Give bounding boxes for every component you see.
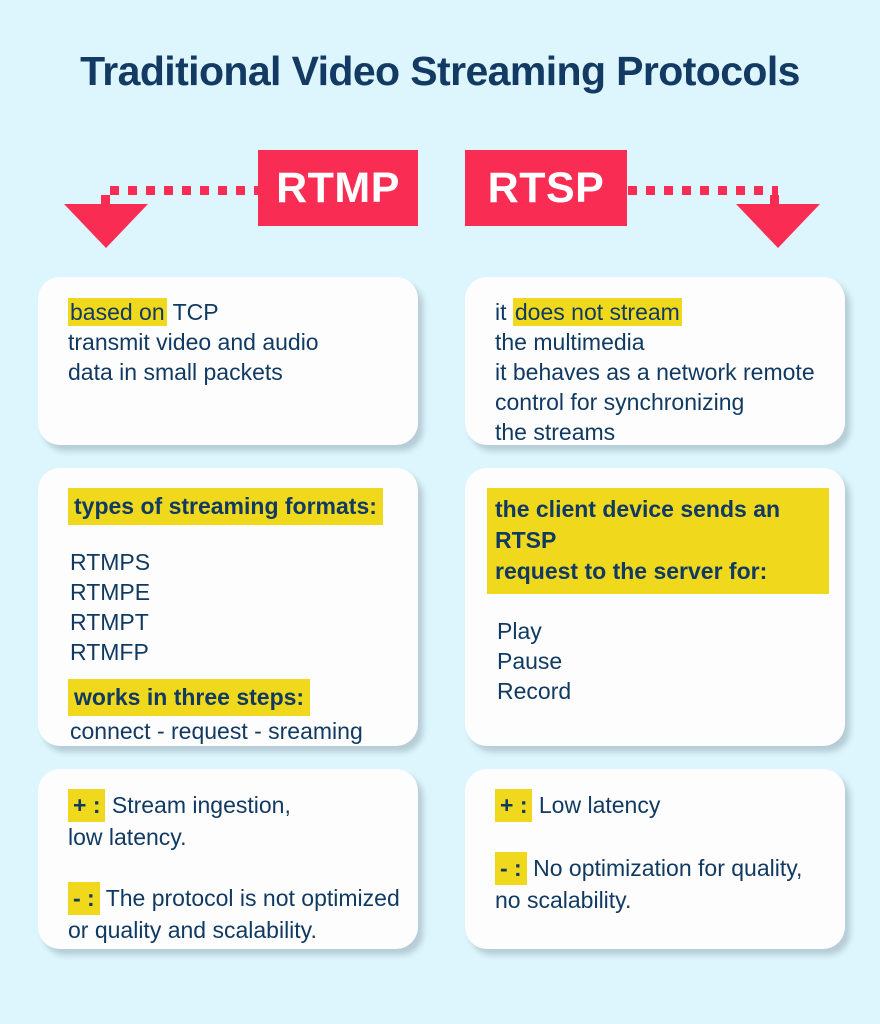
page-title: Traditional Video Streaming Protocols [0,48,880,95]
con-line-2: no scalability. [495,885,823,915]
card-line: it does not stream [495,297,823,327]
badge-rtmp[interactable]: RTMP [258,150,418,226]
highlight-heading: types of streaming formats: [68,488,383,525]
list-item: Record [495,676,823,706]
card-line: transmit video and audio [68,327,396,357]
banner-line-1: the client device sends an RTSP [495,496,780,553]
card-rtsp-requests: the client device sends an RTSP request … [465,468,845,746]
card-line: it behaves as a network remote [495,357,823,387]
dotted-connector-left [110,186,260,195]
card-rtmp-overview: based on TCP transmit video and audio da… [38,277,418,445]
arrow-down-right-icon [736,204,820,248]
protocol-header-band: RTMP RTSP [0,150,880,250]
con-text: The protocol is not optimized [100,885,400,911]
arrow-down-left-icon [64,204,148,248]
card-rtsp-overview: it does not stream the multimedia it beh… [465,277,845,445]
con-marker: - : [68,882,100,915]
pro-text: Stream ingestion, [105,792,290,818]
card-heading: types of streaming formats: [68,488,396,525]
list-item: RTMFP [68,637,396,667]
pro-line: + : Stream ingestion, [68,789,396,822]
card-rtsp-pros-cons: + : Low latency - : No optimization for … [465,769,845,949]
dotted-connector-right [628,186,778,195]
connector-dot-left [101,195,110,204]
spacer [495,594,823,616]
card-line: control for synchronizing [495,387,823,417]
plain-text: it [495,299,513,325]
con-marker: - : [495,852,527,885]
card-rtmp-formats: types of streaming formats: RTMPS RTMPE … [38,468,418,746]
con-line: - : The protocol is not optimized [68,882,396,915]
pro-line: + : Low latency [495,789,823,822]
card-footer-text: connect - request - sreaming [68,716,396,746]
card-line: data in small packets [68,357,396,387]
highlight-heading: works in three steps: [68,679,310,716]
spacer [68,667,396,679]
highlight-text: based on [68,298,167,326]
list-item: RTMPT [68,607,396,637]
spacer [495,822,823,852]
connector-dot-right [770,195,779,204]
list-item: RTMPS [68,547,396,577]
list-item: Pause [495,646,823,676]
card-line: based on TCP [68,297,396,327]
con-line-2: or quality and scalability. [68,915,396,945]
spacer [68,852,396,882]
pro-marker: + : [68,789,105,822]
pro-text: Low latency [532,792,660,818]
badge-rtsp[interactable]: RTSP [465,150,627,226]
list-item: Play [495,616,823,646]
highlight-banner: the client device sends an RTSP request … [487,488,829,594]
plain-text: TCP [167,299,219,325]
con-text: No optimization for quality, [527,855,803,881]
spacer [68,525,396,547]
card-line: the multimedia [495,327,823,357]
card-heading: works in three steps: [68,679,396,716]
card-line: the streams [495,417,823,447]
pro-line-2: low latency. [68,822,396,852]
banner-line-2: request to the server for: [495,558,767,584]
list-item: RTMPE [68,577,396,607]
pro-marker: + : [495,789,532,822]
con-line: - : No optimization for quality, [495,852,823,885]
card-rtmp-pros-cons: + : Stream ingestion, low latency. - : T… [38,769,418,949]
highlight-text: does not stream [513,298,682,326]
